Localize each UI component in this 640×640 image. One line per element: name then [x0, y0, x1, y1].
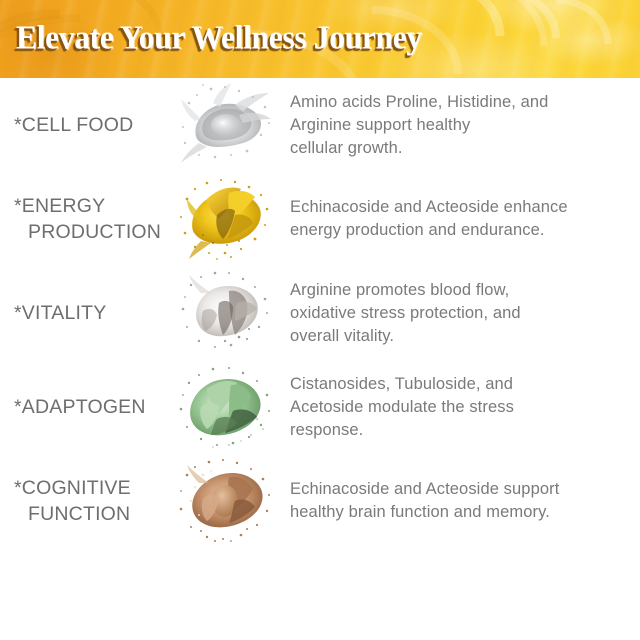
benefit-image: [170, 361, 280, 453]
benefit-image: [170, 79, 280, 171]
header-banner: Elevate Your Wellness Journey: [0, 0, 640, 78]
benefit-desc-line1: Arginine promotes blood flow,: [290, 279, 636, 302]
benefit-label: *ENERGY PRODUCTION: [0, 193, 170, 245]
list-item: *COGNITIVE FUNCTION: [0, 454, 640, 548]
benefit-label-line1: *COGNITIVE: [14, 477, 131, 499]
benefits-list: *CELL FOOD: [0, 78, 640, 548]
benefit-desc-line1: Amino acids Proline, Histidine, and: [290, 91, 636, 114]
benefit-label-line2: FUNCTION: [14, 501, 170, 527]
benefit-desc-line1: Echinacoside and Acteoside enhance: [290, 196, 636, 219]
list-item: *VITALITY: [0, 266, 640, 360]
benefit-label: *VITALITY: [0, 300, 170, 326]
benefit-label: *CELL FOOD: [0, 112, 170, 138]
benefit-image: [170, 267, 280, 359]
benefit-desc-line2: Arginine support healthy: [290, 114, 636, 137]
benefit-image: [170, 455, 280, 547]
benefit-desc-line3: response.: [290, 419, 636, 442]
tan-powder-splash-image: [173, 457, 277, 545]
benefit-label-line1: *ADAPTOGEN: [14, 396, 146, 418]
benefit-label-line1: *CELL FOOD: [14, 114, 133, 136]
benefit-desc-line2: healthy brain function and memory.: [290, 501, 636, 524]
page-title: Elevate Your Wellness Journey: [16, 21, 452, 55]
benefit-description: Arginine promotes blood flow, oxidative …: [280, 279, 640, 348]
list-item: *ADAPTOGEN: [0, 360, 640, 454]
benefit-desc-line1: Cistanosides, Tubuloside, and: [290, 373, 636, 396]
list-item: *CELL FOOD: [0, 78, 640, 172]
benefit-label-line1: *ENERGY: [14, 195, 105, 217]
yellow-turmeric-powder-splash-image: [173, 175, 277, 263]
benefit-label-line1: *VITALITY: [14, 302, 106, 324]
white-powder-splash-image: [173, 81, 277, 169]
benefit-description: Echinacoside and Acteoside support healt…: [280, 478, 640, 524]
benefit-description: Echinacoside and Acteoside enhance energ…: [280, 196, 640, 242]
benefit-desc-line1: Echinacoside and Acteoside support: [290, 478, 636, 501]
benefit-label: *COGNITIVE FUNCTION: [0, 475, 170, 527]
benefit-description: Amino acids Proline, Histidine, and Argi…: [280, 91, 640, 160]
benefit-desc-line2: energy production and endurance.: [290, 219, 636, 242]
benefit-label-line2: PRODUCTION: [14, 219, 170, 245]
grey-powder-splash-image: [173, 269, 277, 357]
benefit-desc-line3: cellular growth.: [290, 137, 636, 160]
page-title-text: Elevate Your Wellness Journey: [16, 21, 422, 55]
benefit-desc-line2: oxidative stress protection, and: [290, 302, 636, 325]
green-powder-splash-image: [173, 363, 277, 451]
list-item: *ENERGY PRODUCTION: [0, 172, 640, 266]
benefit-label: *ADAPTOGEN: [0, 394, 170, 420]
benefit-desc-line3: overall vitality.: [290, 325, 636, 348]
benefit-image: [170, 173, 280, 265]
benefit-description: Cistanosides, Tubuloside, and Acetoside …: [280, 373, 640, 442]
benefit-desc-line2: Acetoside modulate the stress: [290, 396, 636, 419]
wellness-infographic-poster: Elevate Your Wellness Journey *CELL FOOD: [0, 0, 640, 640]
